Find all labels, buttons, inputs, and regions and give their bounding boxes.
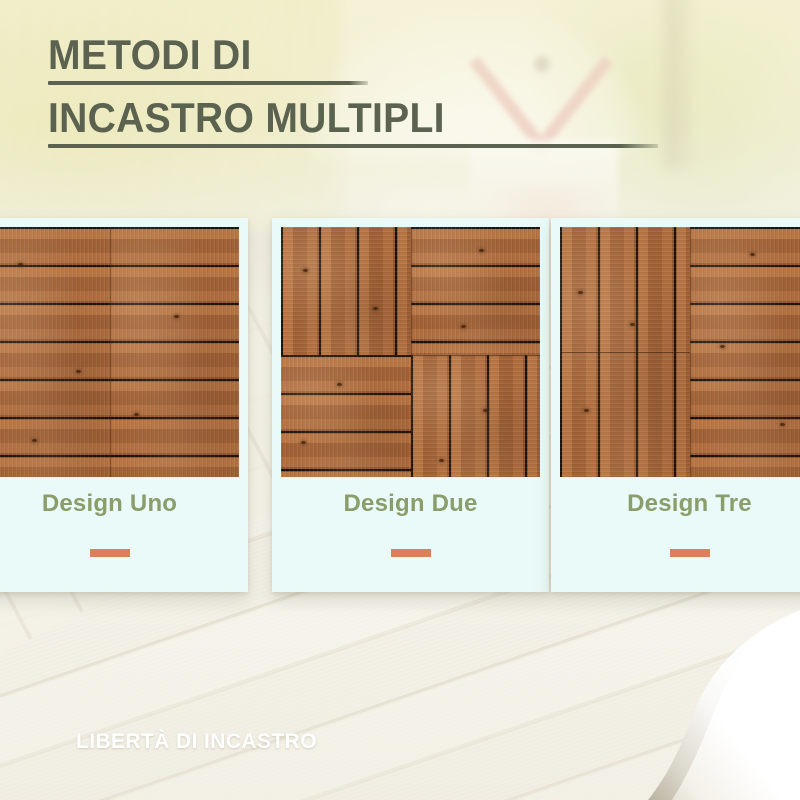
wood-knot [578,291,583,294]
tile-quadrant-top-left [281,227,411,355]
wood-slats-horizontal [110,227,239,477]
wood-slats-horizontal [690,227,800,477]
wood-knot [301,441,306,444]
tile-quadrant-right [110,227,239,477]
wood-knot [32,439,37,442]
tile-half-left [560,227,690,477]
wood-knot [76,370,81,373]
title-underline-2 [48,144,658,148]
footer-caption: LIBERTÀ DI INCASTRO [76,730,317,754]
wood-knot [483,409,488,412]
design-card-due[interactable]: Design Due [272,218,549,592]
design-tile-image-due [281,227,540,477]
design-card-uno[interactable]: Design Uno [0,218,248,592]
wood-knot [18,263,23,266]
design-card-accent-due [391,549,431,557]
page-title-line-1: METODI DI [48,32,615,78]
design-card-accent-tre [670,549,710,557]
wood-knot [337,383,342,386]
design-card-label-tre: Design Tre [551,490,800,518]
design-card-tre[interactable]: Design Tre [551,218,800,592]
design-card-label-uno: Design Uno [0,490,248,518]
page-title-line-2: INCASTRO MULTIPLI [48,95,615,141]
wood-slats-vertical [411,355,540,477]
tile-seam-vertical [110,227,111,477]
header-title-block: METODI DI INCASTRO MULTIPLI [48,32,658,148]
wood-knot [750,253,755,256]
wood-knot [720,345,725,348]
wood-slats-horizontal [0,227,110,477]
tile-seam-horizontal [560,352,690,353]
wood-knot [303,269,308,272]
tile-half-right [690,227,800,477]
wood-slats-horizontal [281,355,411,477]
wood-knot [174,315,179,318]
wood-knot [461,325,466,328]
tile-quadrant-top-right [411,227,540,355]
wood-knot [584,409,589,412]
wood-knot [439,459,444,462]
wood-slats-horizontal [411,227,540,355]
tile-seam-vertical [411,227,412,477]
design-card-accent-uno [90,549,130,557]
wood-knot [780,423,785,426]
tile-quadrant-left [0,227,110,477]
wood-knot [373,307,378,310]
wood-knot [479,249,484,252]
wood-slats-vertical [281,227,411,355]
design-tile-image-uno [0,227,239,477]
design-card-label-due: Design Due [272,490,549,518]
tile-seam-vertical [690,227,691,477]
wood-knot [630,323,635,326]
tile-quadrant-bottom-right [411,355,540,477]
tile-quadrant-bottom-left [281,355,411,477]
design-tile-image-tre [560,227,800,477]
poster-canvas: METODI DI INCASTRO MULTIPLI [0,0,800,800]
wood-knot [134,413,139,416]
